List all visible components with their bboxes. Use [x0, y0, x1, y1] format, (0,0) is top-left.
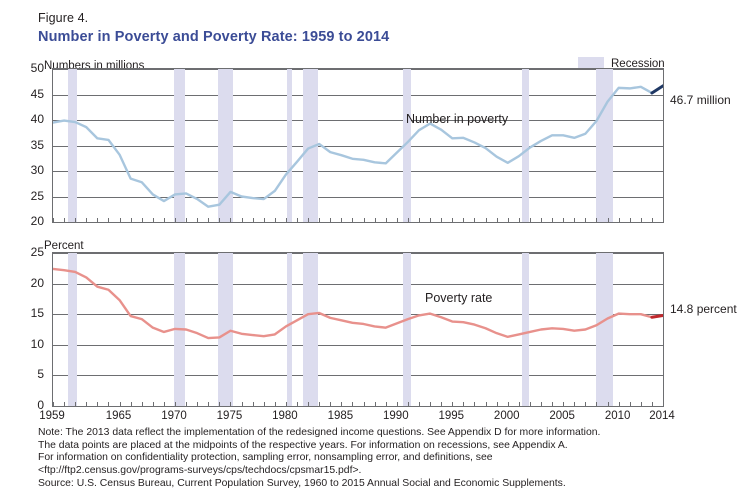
- x-tick: [175, 218, 176, 222]
- plot-area-top: [52, 68, 664, 223]
- x-tick: [497, 218, 498, 222]
- x-tick: [330, 402, 331, 406]
- figure-label: Figure 4.: [38, 11, 88, 25]
- y-tick-label: 15: [31, 306, 44, 320]
- x-tick: [286, 402, 287, 406]
- x-tick: [630, 402, 631, 406]
- x-tick-label: 1990: [383, 410, 409, 422]
- x-tick: [75, 218, 76, 222]
- x-tick: [585, 402, 586, 406]
- x-tick: [486, 218, 487, 222]
- x-tick: [86, 218, 87, 222]
- x-tick-label: 1965: [106, 410, 132, 422]
- x-tick: [153, 218, 154, 222]
- source-line: Source: U.S. Census Bureau, Current Popu…: [38, 478, 738, 491]
- x-tick: [552, 402, 553, 406]
- x-tick: [663, 218, 664, 222]
- x-tick: [486, 402, 487, 406]
- x-tick: [452, 402, 453, 406]
- x-tick: [230, 218, 231, 222]
- page-title: Number in Poverty and Poverty Rate: 1959…: [38, 29, 389, 45]
- x-tick: [75, 402, 76, 406]
- x-tick: [208, 402, 209, 406]
- x-tick: [552, 218, 553, 222]
- x-tick: [596, 402, 597, 406]
- x-tick: [53, 402, 54, 406]
- y-tick-label: 50: [31, 61, 44, 75]
- x-axis-labels-top: [52, 223, 664, 243]
- x-tick-label: 1959: [39, 410, 65, 422]
- x-tick-label: 2014: [649, 410, 675, 422]
- x-tick: [253, 402, 254, 406]
- x-tick: [619, 402, 620, 406]
- x-tick: [242, 218, 243, 222]
- x-tick: [596, 218, 597, 222]
- x-tick: [508, 218, 509, 222]
- x-tick: [663, 402, 664, 406]
- series-layer: [53, 253, 663, 406]
- chart-poverty-rate: 0510152025 19591965197019751980198519901…: [0, 252, 749, 407]
- x-tick: [519, 218, 520, 222]
- x-tick: [53, 218, 54, 222]
- figure-notes: Note: The 2013 data reflect the implemen…: [38, 427, 738, 477]
- x-tick: [408, 218, 409, 222]
- x-tick: [574, 218, 575, 222]
- y-tick-label: 10: [31, 337, 44, 351]
- x-tick: [186, 218, 187, 222]
- x-tick: [530, 402, 531, 406]
- x-tick: [563, 402, 564, 406]
- x-tick: [364, 218, 365, 222]
- x-axis-labels-bottom: 1959196519701975198019851990199520002005…: [52, 407, 664, 427]
- chart-number-in-poverty: 20253035404550: [0, 68, 749, 223]
- data-line-highlight: [652, 86, 663, 93]
- x-tick: [441, 218, 442, 222]
- x-tick: [386, 218, 387, 222]
- x-tick: [608, 402, 609, 406]
- x-tick: [308, 218, 309, 222]
- x-tick: [641, 218, 642, 222]
- x-tick: [86, 402, 87, 406]
- data-line-highlight: [652, 315, 663, 317]
- x-tick: [242, 402, 243, 406]
- x-tick: [275, 218, 276, 222]
- x-tick: [64, 218, 65, 222]
- y-tick-label: 40: [31, 112, 44, 126]
- x-tick: [585, 218, 586, 222]
- x-tick: [120, 402, 121, 406]
- x-tick: [352, 402, 353, 406]
- x-tick: [186, 402, 187, 406]
- x-tick: [574, 402, 575, 406]
- x-tick: [108, 218, 109, 222]
- x-tick: [397, 402, 398, 406]
- x-tick-label: 2005: [549, 410, 575, 422]
- x-tick: [286, 218, 287, 222]
- x-tick: [253, 218, 254, 222]
- x-tick: [341, 218, 342, 222]
- x-tick: [64, 402, 65, 406]
- y-tick-label: 20: [31, 214, 44, 228]
- data-line: [53, 269, 663, 338]
- x-tick: [364, 402, 365, 406]
- x-tick: [230, 402, 231, 406]
- x-tick: [430, 218, 431, 222]
- x-tick: [131, 218, 132, 222]
- x-tick: [120, 218, 121, 222]
- note-line-1: Note: The 2013 data reflect the implemen…: [38, 427, 738, 440]
- figure-source: Source: U.S. Census Bureau, Current Popu…: [38, 478, 738, 491]
- x-tick: [308, 402, 309, 406]
- data-line: [53, 86, 663, 207]
- x-tick: [386, 402, 387, 406]
- x-tick-label: 1975: [217, 410, 243, 422]
- x-tick: [108, 402, 109, 406]
- x-tick: [641, 402, 642, 406]
- x-tick: [208, 218, 209, 222]
- x-tick: [463, 402, 464, 406]
- x-tick: [441, 402, 442, 406]
- x-tick: [319, 218, 320, 222]
- x-tick: [452, 218, 453, 222]
- x-tick: [419, 402, 420, 406]
- y-axis-labels-top: 20253035404550: [0, 68, 52, 223]
- x-tick: [497, 402, 498, 406]
- y-tick-label: 45: [31, 87, 44, 101]
- y-tick-label: 25: [31, 189, 44, 203]
- x-tick: [652, 402, 653, 406]
- x-tick-label: 1995: [438, 410, 464, 422]
- y-tick-label: 20: [31, 276, 44, 290]
- x-tick: [474, 402, 475, 406]
- x-tick: [341, 402, 342, 406]
- series-annotation-rate: Poverty rate: [425, 291, 492, 305]
- x-tick: [297, 218, 298, 222]
- y-tick-label: 35: [31, 138, 44, 152]
- x-tick: [563, 218, 564, 222]
- x-tick-label: 1970: [161, 410, 187, 422]
- x-tick: [541, 218, 542, 222]
- x-tick: [197, 218, 198, 222]
- x-tick: [519, 402, 520, 406]
- x-tick: [508, 402, 509, 406]
- end-label-rate: 14.8 percent: [670, 302, 737, 316]
- x-tick: [297, 402, 298, 406]
- x-tick: [430, 402, 431, 406]
- note-line-4: <ftp://ftp2.census.gov/programs-surveys/…: [38, 465, 738, 478]
- x-tick-label: 1985: [328, 410, 354, 422]
- x-tick: [175, 402, 176, 406]
- x-tick: [275, 402, 276, 406]
- x-tick: [408, 402, 409, 406]
- x-tick: [541, 402, 542, 406]
- x-tick: [97, 218, 98, 222]
- series-annotation-number: Number in poverty: [406, 112, 508, 126]
- x-tick: [375, 402, 376, 406]
- y-tick-label: 30: [31, 163, 44, 177]
- x-tick: [530, 218, 531, 222]
- x-tick: [264, 218, 265, 222]
- x-tick: [164, 402, 165, 406]
- x-tick: [131, 402, 132, 406]
- x-tick: [619, 218, 620, 222]
- figure-page: Figure 4. Number in Poverty and Poverty …: [0, 0, 749, 500]
- x-tick: [608, 218, 609, 222]
- x-tick: [630, 218, 631, 222]
- x-tick: [474, 218, 475, 222]
- note-line-2: The data points are placed at the midpoi…: [38, 440, 738, 453]
- x-tick-label: 2000: [494, 410, 520, 422]
- x-tick: [219, 402, 220, 406]
- x-tick: [652, 218, 653, 222]
- x-tick: [197, 402, 198, 406]
- x-tick: [142, 218, 143, 222]
- x-tick: [153, 402, 154, 406]
- x-tick: [397, 218, 398, 222]
- end-label-number: 46.7 million: [670, 93, 731, 107]
- x-tick: [219, 218, 220, 222]
- x-tick: [97, 402, 98, 406]
- x-tick: [419, 218, 420, 222]
- y-tick-label: 5: [37, 367, 44, 381]
- x-tick: [330, 218, 331, 222]
- x-tick: [375, 218, 376, 222]
- note-line-3: For information on confidentiality prote…: [38, 452, 738, 465]
- x-tick: [142, 402, 143, 406]
- x-tick: [164, 218, 165, 222]
- x-tick: [264, 402, 265, 406]
- series-layer: [53, 69, 663, 222]
- plot-area-bottom: [52, 252, 664, 407]
- y-tick-label: 25: [31, 245, 44, 259]
- x-tick-label: 2010: [605, 410, 631, 422]
- x-tick-label: 1980: [272, 410, 298, 422]
- x-tick: [463, 218, 464, 222]
- x-tick: [352, 218, 353, 222]
- x-tick: [319, 402, 320, 406]
- y-axis-labels-bottom: 0510152025: [0, 252, 52, 407]
